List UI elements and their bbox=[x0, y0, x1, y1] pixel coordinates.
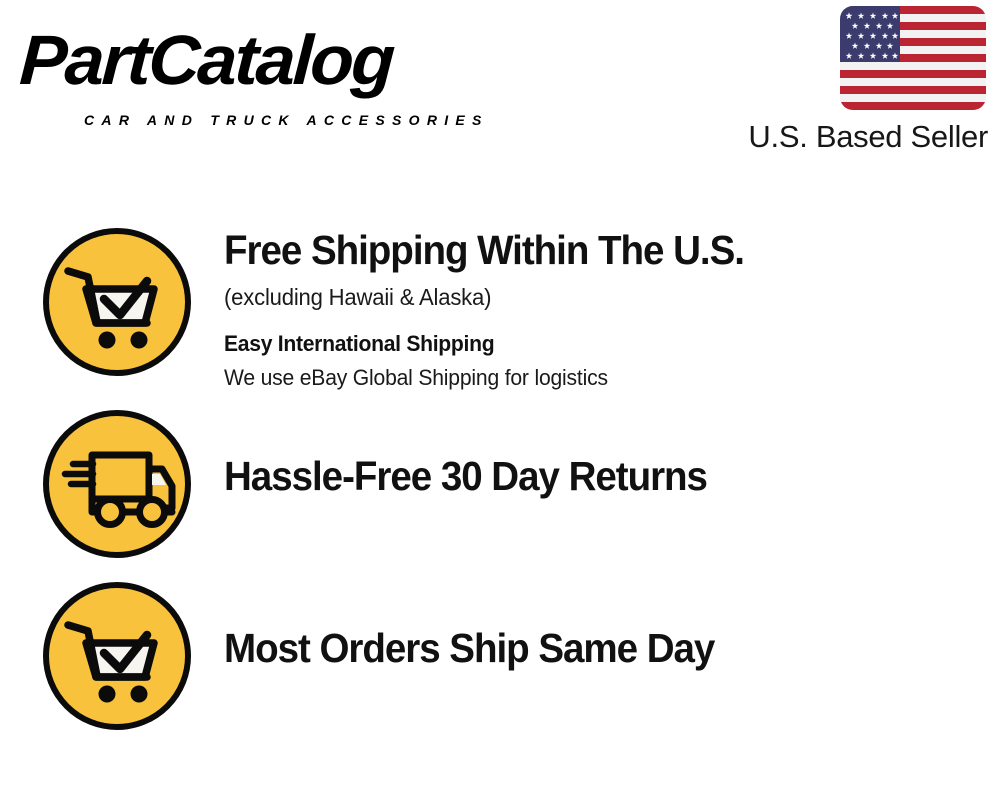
feature-text: Free Shipping Within The U.S. (excluding… bbox=[193, 226, 1000, 394]
feature-text: Hassle-Free 30 Day Returns bbox=[193, 408, 1000, 500]
page-header: PartCatalog CAR AND TRUCK ACCESSORIES bbox=[0, 0, 1000, 170]
brand-wordmark: PartCatalog bbox=[18, 22, 395, 98]
feature-row: Most Orders Ship Same Day bbox=[0, 580, 1000, 732]
feature-title: Free Shipping Within The U.S. bbox=[224, 226, 953, 274]
feature-sub-heading: Easy International Shipping bbox=[224, 328, 969, 360]
feature-subtitle: (excluding Hawaii & Alaska) bbox=[224, 280, 969, 314]
feature-row: Hassle-Free 30 Day Returns bbox=[0, 408, 1000, 560]
feature-title: Most Orders Ship Same Day bbox=[224, 624, 953, 672]
us-based-seller-badge: U.S. Based Seller bbox=[716, 6, 988, 155]
brand-tagline: CAR AND TRUCK ACCESSORIES bbox=[84, 112, 489, 128]
us-flag-icon bbox=[840, 6, 986, 110]
delivery-truck-icon bbox=[41, 408, 193, 560]
us-based-seller-label: U.S. Based Seller bbox=[716, 119, 988, 155]
shopping-cart-check-icon bbox=[41, 580, 193, 732]
feature-title: Hassle-Free 30 Day Returns bbox=[224, 452, 953, 500]
brand-logo[interactable]: PartCatalog CAR AND TRUCK ACCESSORIES bbox=[22, 22, 492, 114]
shopping-cart-check-icon bbox=[41, 226, 193, 378]
feature-text: Most Orders Ship Same Day bbox=[193, 580, 1000, 672]
feature-row: Free Shipping Within The U.S. (excluding… bbox=[0, 226, 1000, 394]
feature-sub-detail: We use eBay Global Shipping for logistic… bbox=[224, 362, 969, 394]
